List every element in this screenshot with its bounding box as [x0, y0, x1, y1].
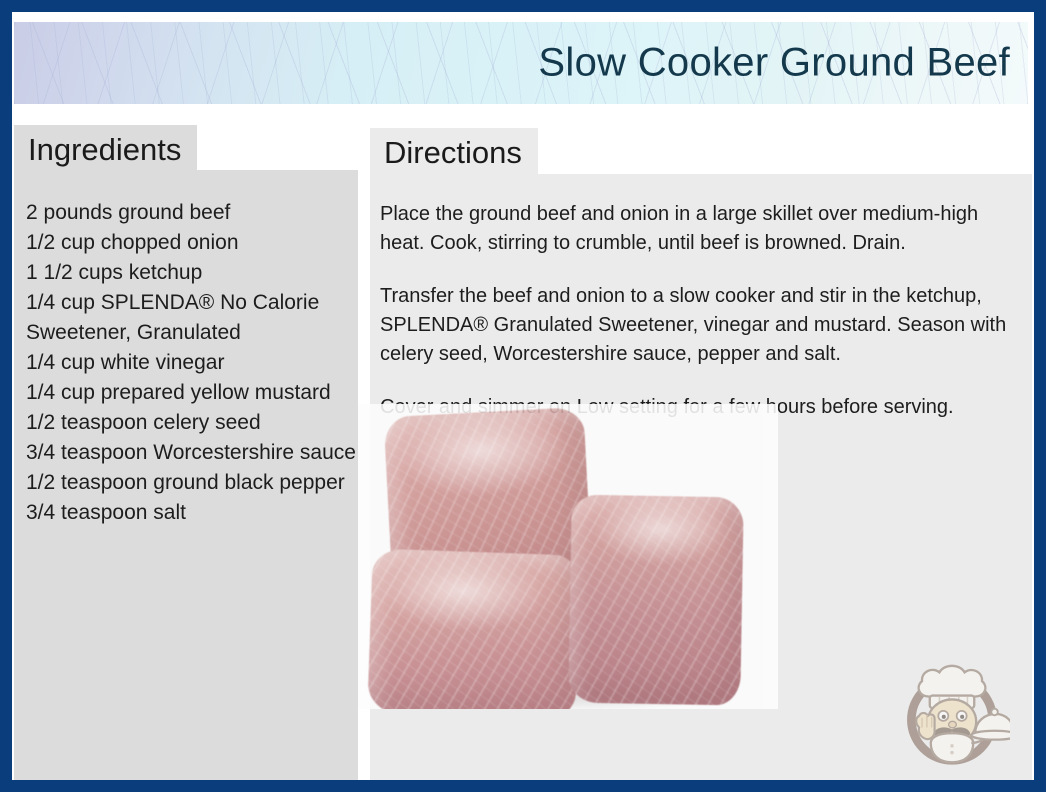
directions-heading: Directions	[370, 128, 538, 176]
directions-text: Place the ground beef and onion in a lar…	[380, 200, 1025, 422]
ingredients-panel: 2 pounds ground beef 1/2 cup chopped oni…	[14, 170, 358, 780]
card-inner: Slow Cooker Ground Beef Ingredients 2 po…	[12, 12, 1034, 780]
list-item: 1/4 cup SPLENDA® No Calorie Sweetener, G…	[26, 288, 356, 348]
direction-step: Place the ground beef and onion in a lar…	[380, 200, 1025, 258]
chef-logo-icon	[894, 654, 1010, 770]
beef-cube	[367, 548, 581, 709]
list-item: 1 1/2 cups ketchup	[26, 258, 356, 288]
page-title: Slow Cooker Ground Beef	[538, 41, 1010, 86]
list-item: 1/2 teaspoon ground black pepper	[26, 468, 356, 498]
beef-cube	[568, 495, 744, 706]
direction-step: Transfer the beef and onion to a slow co…	[380, 282, 1025, 369]
beef-grain-texture	[367, 548, 581, 709]
ingredients-list: 2 pounds ground beef 1/2 cup chopped oni…	[26, 198, 356, 528]
list-item: 3/4 teaspoon Worcestershire sauce	[26, 438, 356, 468]
list-item: 1/2 cup chopped onion	[26, 228, 356, 258]
list-item: 2 pounds ground beef	[26, 198, 356, 228]
title-banner: Slow Cooker Ground Beef	[14, 22, 1028, 104]
ingredients-heading: Ingredients	[14, 125, 197, 173]
list-item: 1/4 cup white vinegar	[26, 348, 356, 378]
beef-photo	[358, 404, 778, 709]
list-item: 1/4 cup prepared yellow mustard	[26, 378, 356, 408]
list-item: 1/2 teaspoon celery seed	[26, 408, 356, 438]
recipe-card: Slow Cooker Ground Beef Ingredients 2 po…	[0, 0, 1046, 792]
list-item: 3/4 teaspoon salt	[26, 498, 356, 528]
beef-grain-texture	[568, 495, 744, 706]
